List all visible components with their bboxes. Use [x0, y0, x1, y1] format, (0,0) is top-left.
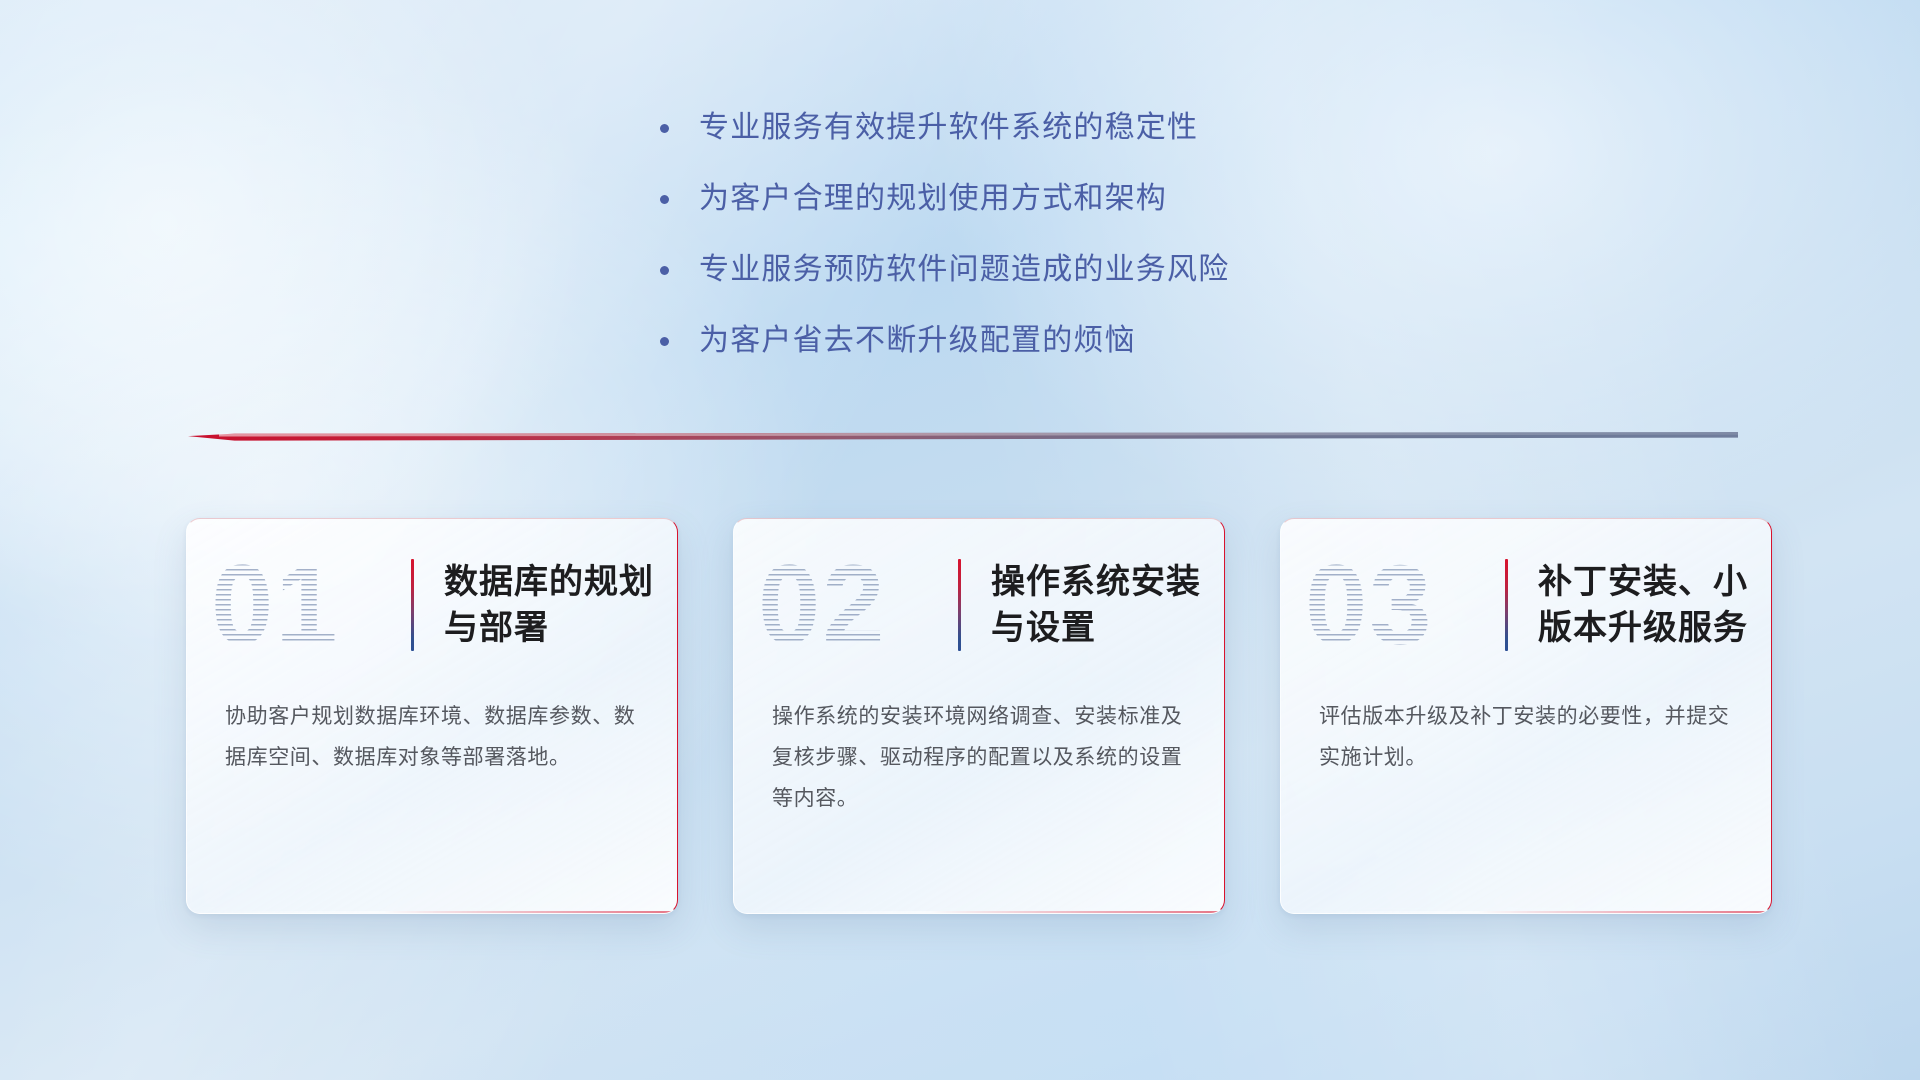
service-card[interactable]: 02 操作系统安装 与设置 操作系统的安装环境网络调查、安装标准及复核步骤、驱动… — [733, 518, 1225, 914]
card-accent-bar — [1505, 559, 1508, 651]
card-description: 操作系统的安装环境网络调查、安装标准及复核步骤、驱动程序的配置以及系统的设置等内… — [734, 691, 1224, 820]
card-title: 补丁安装、小 版本升级服务 — [1538, 559, 1748, 651]
section-divider — [188, 432, 1738, 441]
service-card-list: 01 数据库的规划 与部署 协助客户规划数据库环境、数据库参数、数据库空间、数据… — [186, 518, 1772, 914]
benefits-list: 专业服务有效提升软件系统的稳定性 为客户合理的规划使用方式和架构 专业服务预防软… — [660, 108, 1420, 392]
card-number: 01 — [211, 549, 411, 661]
bullet-dot-icon — [660, 337, 669, 346]
bullet-dot-icon — [660, 124, 669, 133]
list-item: 为客户省去不断升级配置的烦恼 — [660, 321, 1420, 360]
bullet-dot-icon — [660, 195, 669, 204]
card-description: 评估版本升级及补丁安装的必要性，并提交实施计划。 — [1281, 691, 1771, 779]
list-item: 专业服务有效提升软件系统的稳定性 — [660, 108, 1420, 147]
bullet-text: 为客户合理的规划使用方式和架构 — [699, 179, 1167, 218]
card-number: 02 — [758, 549, 958, 661]
list-item: 为客户合理的规划使用方式和架构 — [660, 179, 1420, 218]
card-accent-bar — [958, 559, 961, 651]
card-header: 03 补丁安装、小 版本升级服务 — [1281, 519, 1771, 691]
card-title: 数据库的规划 与部署 — [444, 559, 654, 651]
card-number: 03 — [1305, 549, 1505, 661]
bullet-text: 为客户省去不断升级配置的烦恼 — [699, 321, 1136, 360]
bullet-text: 专业服务预防软件问题造成的业务风险 — [699, 250, 1229, 289]
service-card[interactable]: 03 补丁安装、小 版本升级服务 评估版本升级及补丁安装的必要性，并提交实施计划… — [1280, 518, 1772, 914]
list-item: 专业服务预防软件问题造成的业务风险 — [660, 250, 1420, 289]
card-header: 01 数据库的规划 与部署 — [187, 519, 677, 691]
card-description: 协助客户规划数据库环境、数据库参数、数据库空间、数据库对象等部署落地。 — [187, 691, 677, 779]
card-accent-bar — [411, 559, 414, 651]
bullet-dot-icon — [660, 266, 669, 275]
bullet-text: 专业服务有效提升软件系统的稳定性 — [699, 108, 1198, 147]
card-header: 02 操作系统安装 与设置 — [734, 519, 1224, 691]
service-card[interactable]: 01 数据库的规划 与部署 协助客户规划数据库环境、数据库参数、数据库空间、数据… — [186, 518, 678, 914]
card-title: 操作系统安装 与设置 — [991, 559, 1201, 651]
